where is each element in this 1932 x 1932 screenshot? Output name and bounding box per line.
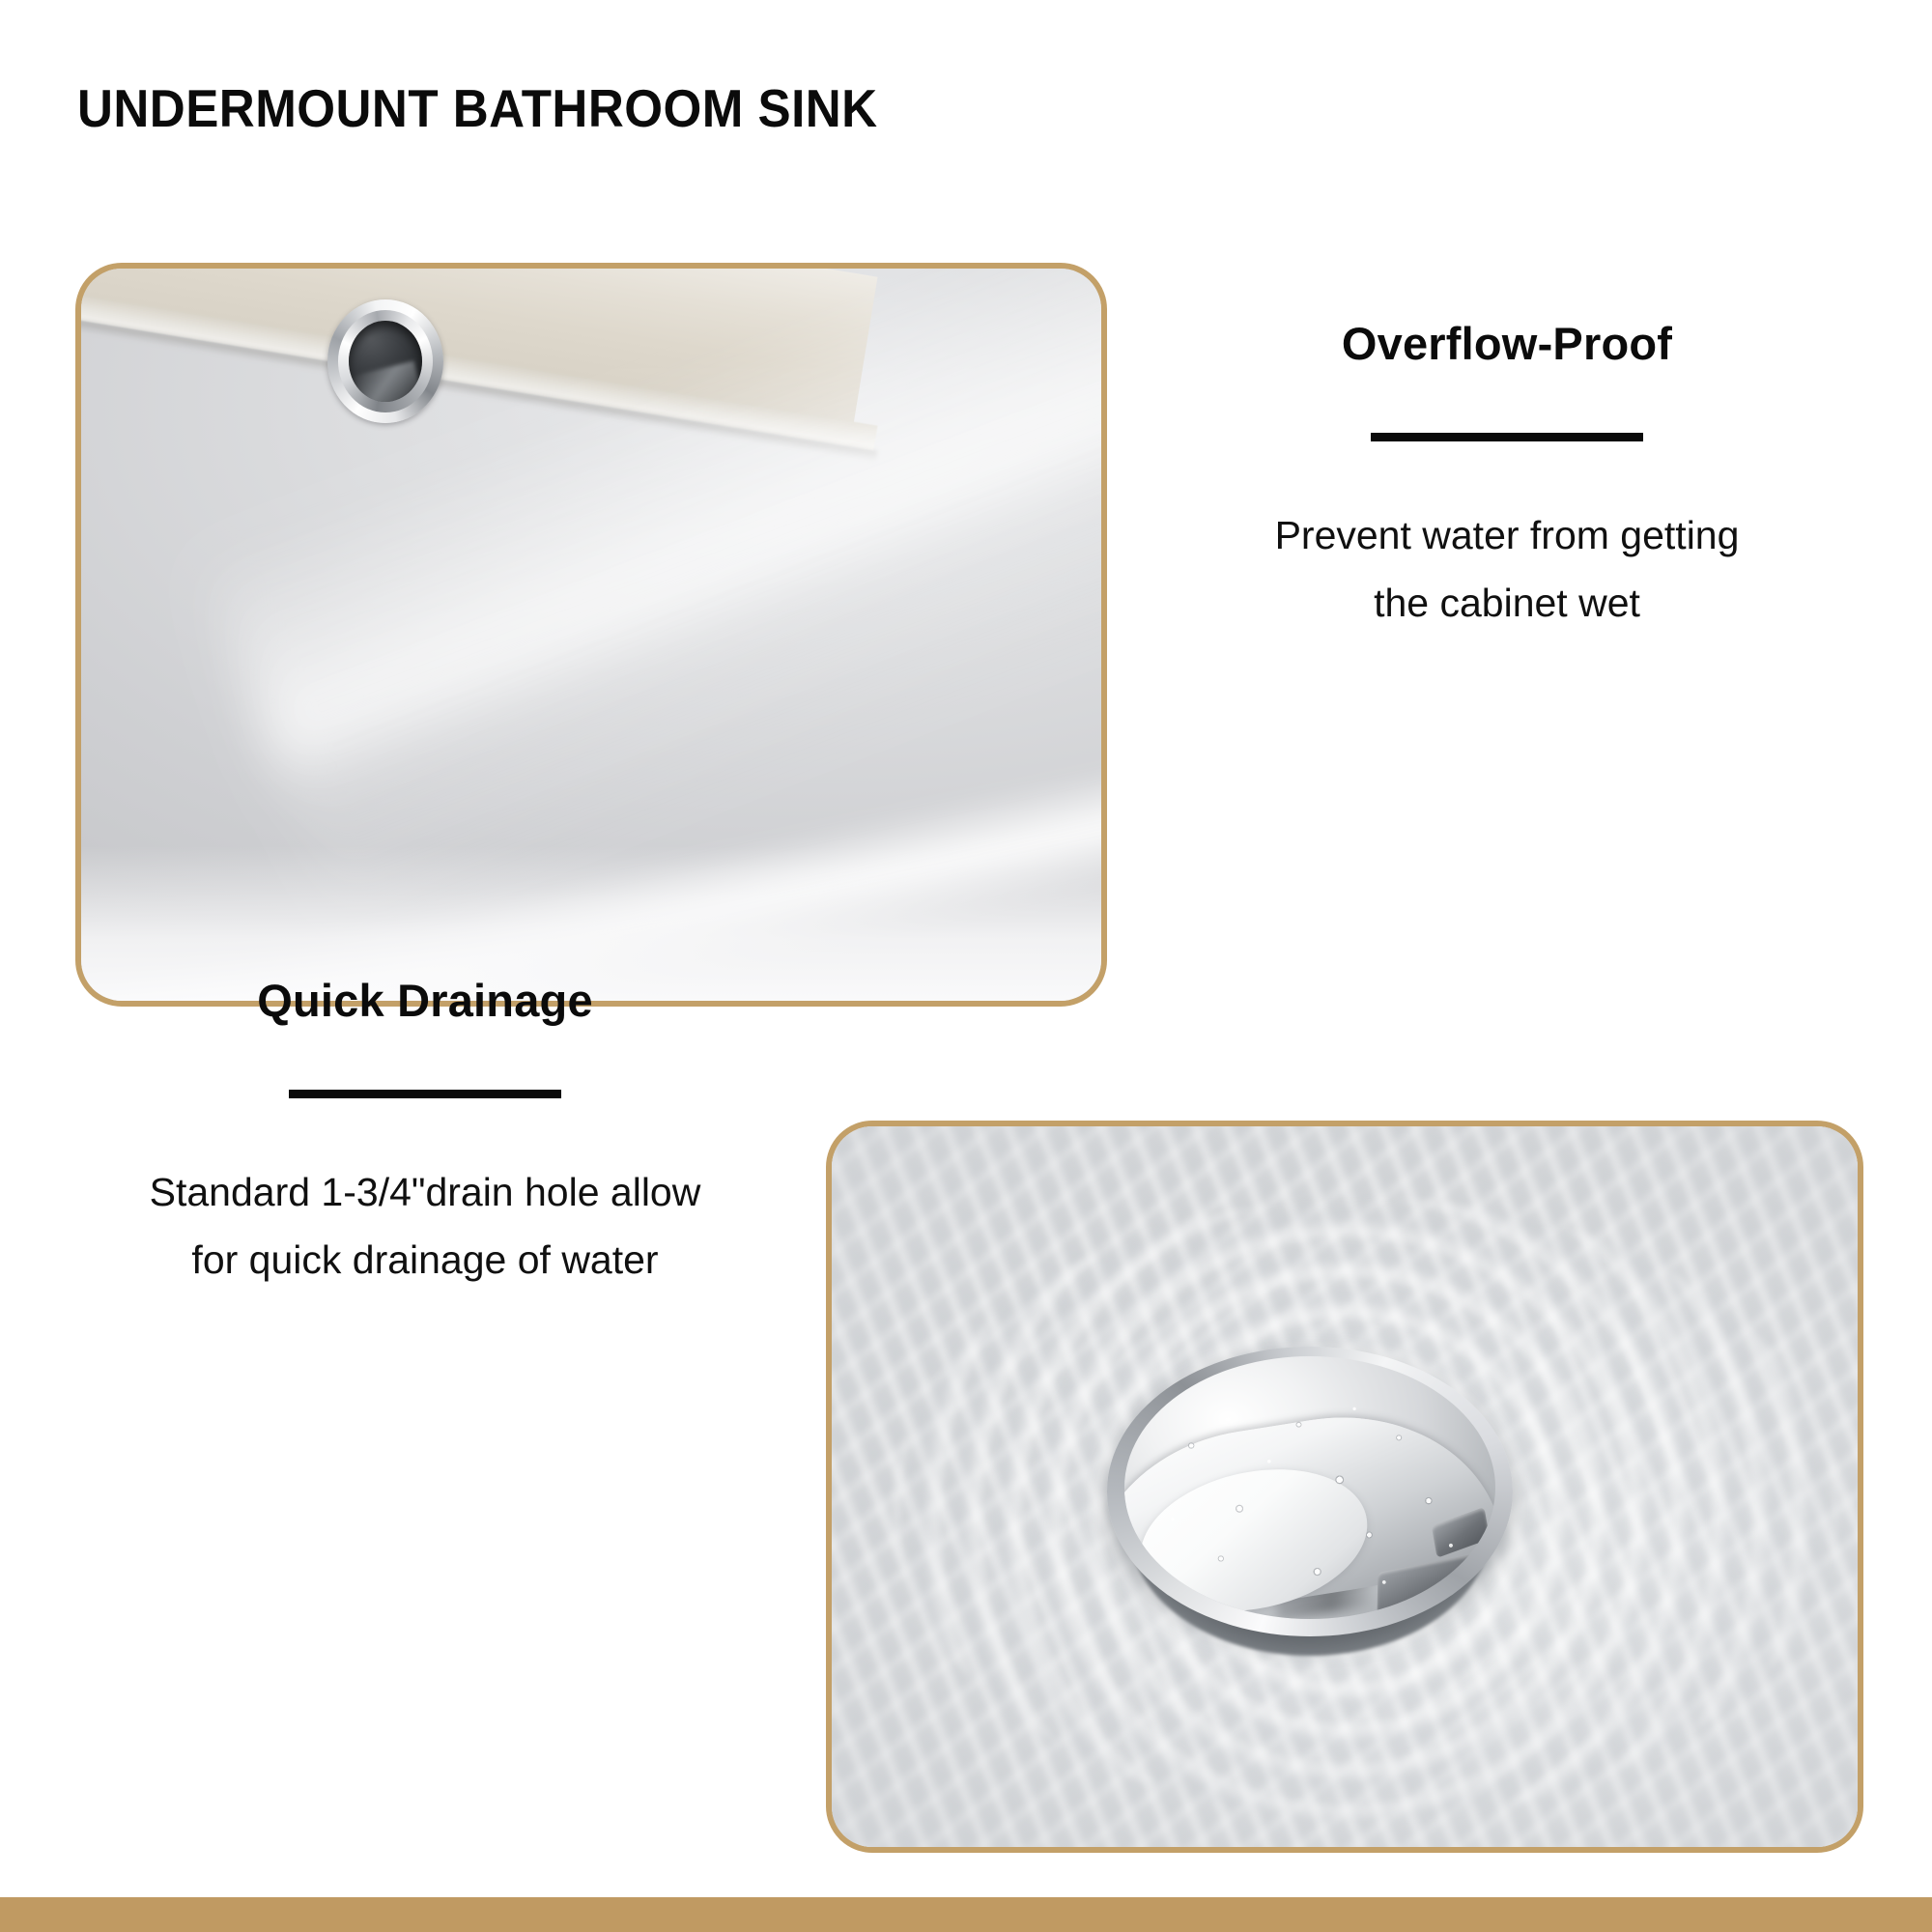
overflow-proof-body: Prevent water from getting the cabinet w… [1043, 501, 1932, 638]
overflow-proof-feature-block: Overflow-Proof Prevent water from gettin… [1043, 319, 1932, 638]
drain-cap [1124, 1356, 1495, 1619]
quick-drainage-body: Standard 1-3/4"drain hole allow for quic… [0, 1158, 889, 1294]
drain-stopper-icon [1107, 1347, 1513, 1665]
overflow-hole-icon [327, 299, 443, 423]
water-droplets [1124, 1356, 1495, 1619]
bottom-accent-bar [0, 1897, 1932, 1932]
overflow-hole-bore [349, 321, 422, 402]
quick-drainage-body-line-1: Standard 1-3/4"drain hole allow [0, 1158, 889, 1227]
sink-basin-surface [81, 269, 1101, 1001]
quick-drainage-feature-block: Quick Drainage Standard 1-3/4"drain hole… [0, 976, 889, 1294]
quick-drainage-divider [289, 1090, 561, 1098]
page-title: UNDERMOUNT BATHROOM SINK [77, 81, 878, 137]
water-surface [832, 1126, 1858, 1847]
infographic-root: UNDERMOUNT BATHROOM SINK Overflow-Proof [0, 0, 1932, 1932]
overflow-proof-body-line-2: the cabinet wet [1043, 569, 1932, 638]
quick-drainage-image-panel [826, 1121, 1863, 1853]
overflow-hole-glint [351, 360, 422, 402]
overflow-proof-divider [1371, 433, 1643, 441]
quick-drainage-heading: Quick Drainage [0, 976, 889, 1026]
overflow-proof-heading: Overflow-Proof [1043, 319, 1932, 369]
quick-drainage-body-line-2: for quick drainage of water [0, 1226, 889, 1294]
overflow-proof-image-panel [75, 263, 1107, 1007]
overflow-proof-body-line-1: Prevent water from getting [1043, 501, 1932, 570]
